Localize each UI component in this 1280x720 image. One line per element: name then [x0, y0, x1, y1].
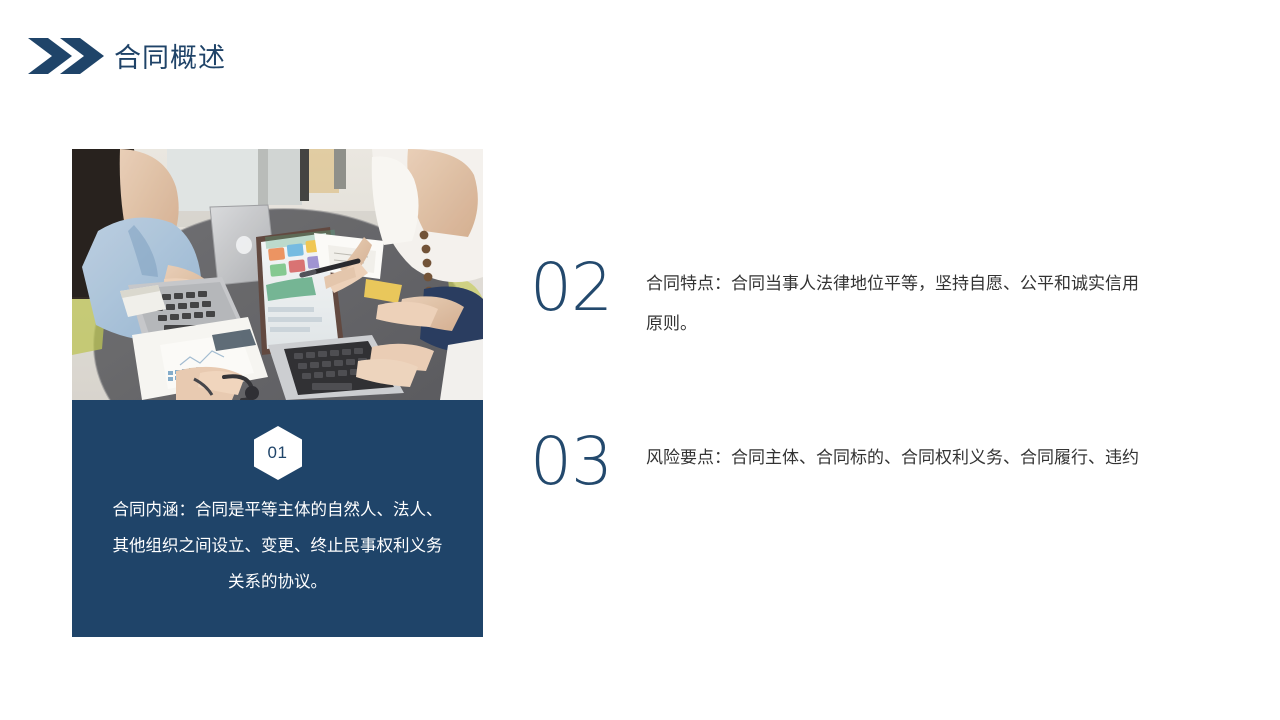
badge-number: 01	[254, 426, 302, 480]
point-number-03: 03	[530, 424, 630, 500]
double-chevron-right-icon	[28, 38, 104, 74]
point-number-02: 02	[530, 250, 630, 326]
contract-definition-text: 合同内涵：合同是平等主体的自然人、法人、其他组织之间设立、变更、终止民事权利义务…	[106, 492, 449, 600]
contract-definition-card: 01 合同内涵：合同是平等主体的自然人、法人、其他组织之间设立、变更、终止民事权…	[72, 149, 483, 637]
contract-definition-panel: 01 合同内涵：合同是平等主体的自然人、法人、其他组织之间设立、变更、终止民事权…	[72, 400, 483, 637]
page-title: 合同概述	[114, 40, 226, 76]
point-text-02: 合同特点：合同当事人法律地位平等，坚持自愿、公平和诚实信用原则。	[646, 264, 1146, 344]
team-meeting-photo	[72, 149, 483, 400]
point-text-03: 风险要点：合同主体、合同标的、合同权利义务、合同履行、违约	[646, 438, 1146, 478]
hexagon-badge: 01	[254, 426, 302, 480]
slide-header: 合同概述	[0, 0, 1280, 110]
